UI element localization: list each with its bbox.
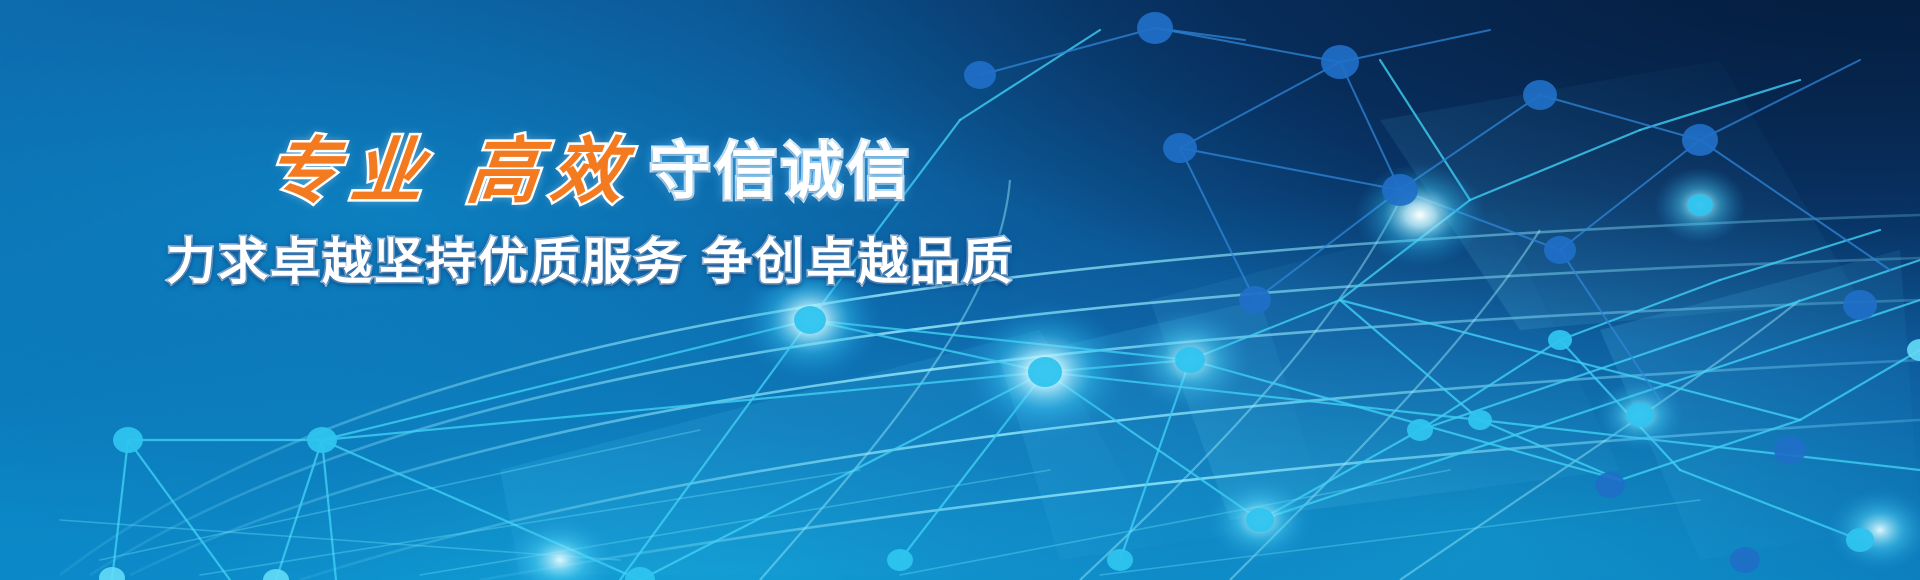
headline-emphasis: 专业 高效 bbox=[263, 136, 639, 208]
headline: 专业 高效 守信诚信 bbox=[267, 136, 913, 208]
subline: 力求卓越坚持优质服务 争创卓越品质 bbox=[166, 222, 1014, 294]
hero-banner: 专业 高效 守信诚信 力求卓越坚持优质服务 争创卓越品质 bbox=[0, 0, 1920, 580]
slogan-text-block: 专业 高效 守信诚信 力求卓越坚持优质服务 争创卓越品质 bbox=[0, 136, 1180, 294]
headline-secondary: 守信诚信 bbox=[649, 142, 913, 204]
